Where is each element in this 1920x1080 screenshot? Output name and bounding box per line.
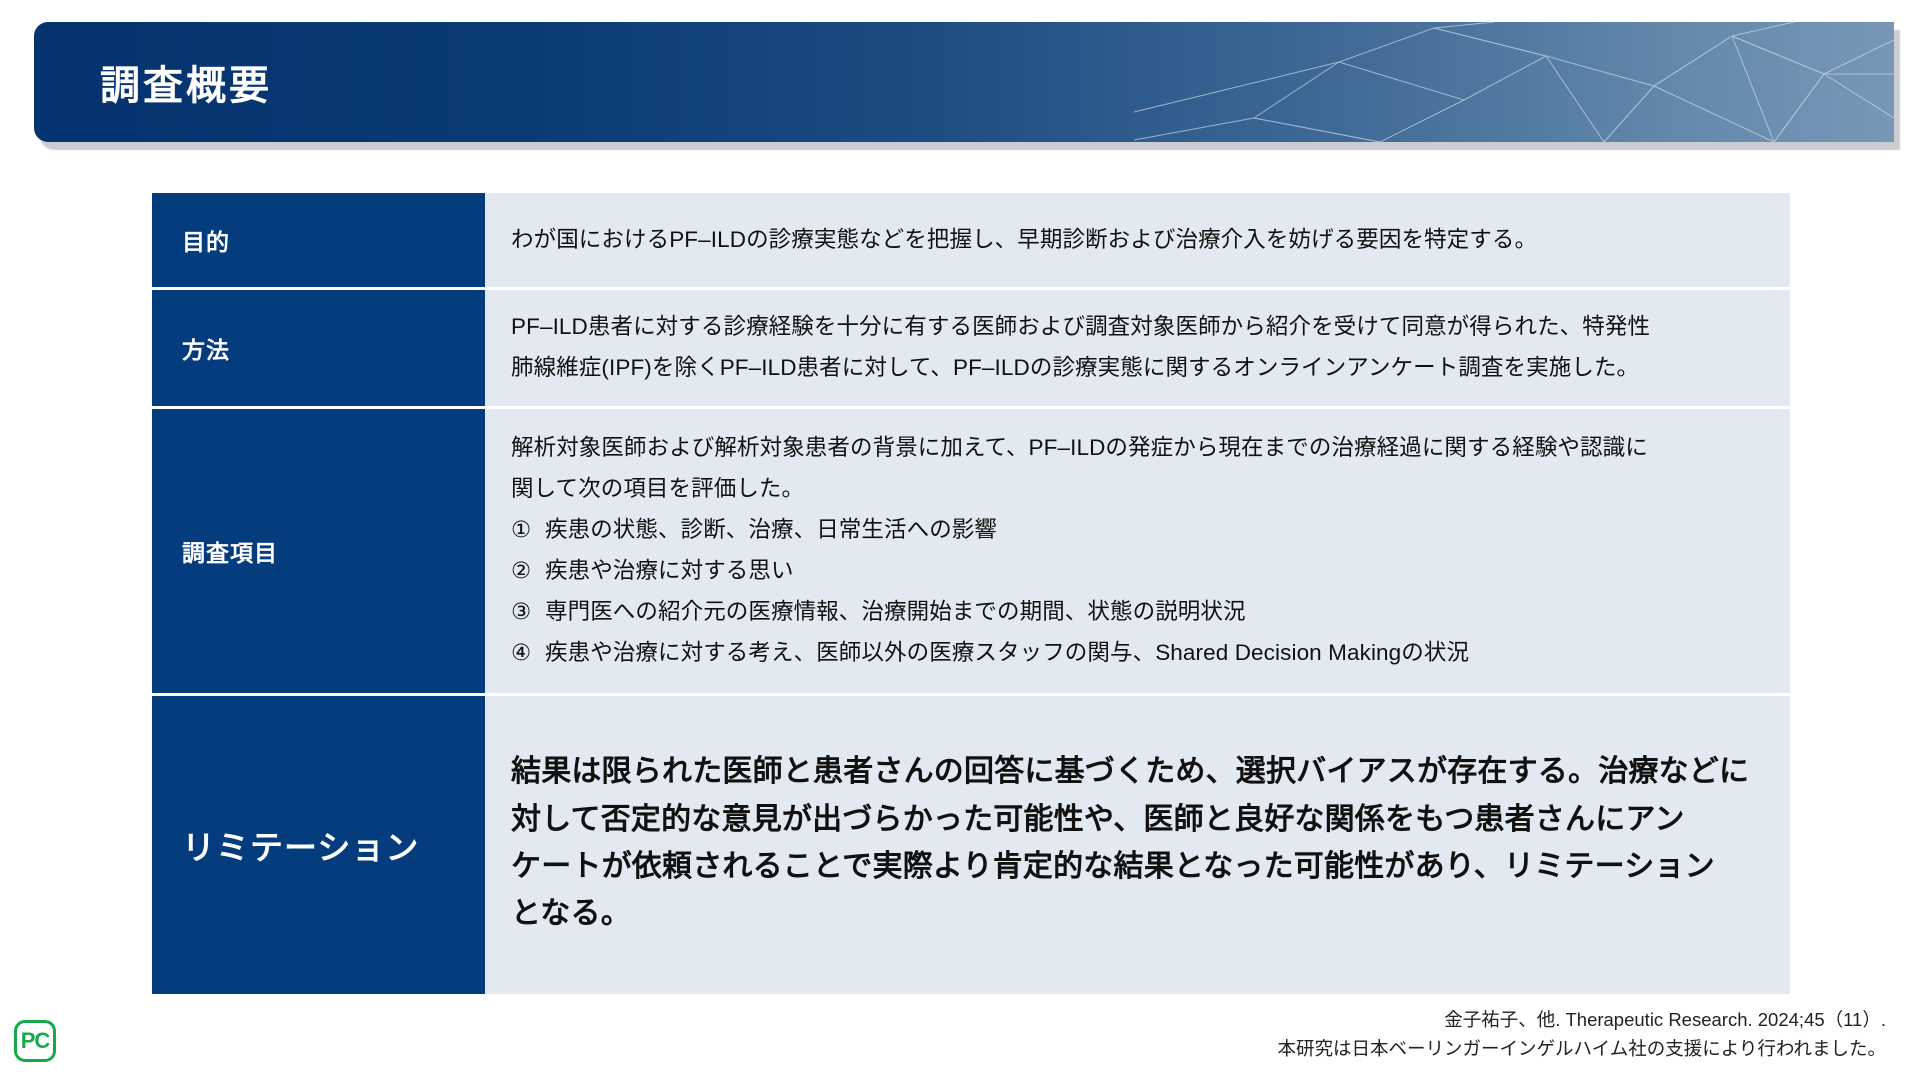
body-line: わが国におけるPF–ILDの診療実態などを把握し、早期診断および治療介入を妨げる… [511, 220, 1760, 261]
funding-text: 本研究は日本ベーリンガーインゲルハイム社の支援により行われました。 [1278, 1034, 1886, 1064]
list-item: ③ 専門医への紹介元の医療情報、治療開始までの期間、状態の説明状況 [511, 592, 1760, 633]
page-title: 調査概要 [100, 53, 272, 111]
list-item-label: 疾患の状態、診断、治療、日常生活への影響 [545, 510, 997, 551]
body-line: ケートが依頼されることで実際より肯定的な結果となった可能性があり、リミテーション [511, 843, 1760, 890]
list-item: ④ 疾患や治療に対する考え、医師以外の医療スタッフの関与、Shared Deci… [511, 633, 1760, 674]
list-item: ② 疾患や治療に対する思い [511, 551, 1760, 592]
list-item-number: ④ [511, 633, 545, 674]
list-item-label: 疾患や治療に対する考え、医師以外の医療スタッフの関与、Shared Decisi… [545, 633, 1469, 674]
body-line: 肺線維症(IPF)を除くPF–ILD患者に対して、PF–ILDの診療実態に関する… [511, 348, 1760, 389]
body-line: 解析対象医師および解析対象患者の背景に加えて、PF–ILDの発症から現在までの治… [511, 428, 1760, 469]
row-body-purpose: わが国におけるPF–ILDの診療実態などを把握し、早期診断および治療介入を妨げる… [485, 193, 1790, 289]
table-row: 調査項目 解析対象医師および解析対象患者の背景に加えて、PF–ILDの発症から現… [152, 408, 1790, 695]
header-banner: 調査概要 [34, 22, 1894, 142]
survey-overview-table: 目的 わが国におけるPF–ILDの診療実態などを把握し、早期診断および治療介入を… [152, 193, 1790, 994]
pc-logo-icon: PC [14, 1020, 56, 1062]
list-item-number: ② [511, 551, 545, 592]
citation-text: 金子祐子、他. Therapeutic Research. 2024;45（11… [1278, 1005, 1886, 1035]
table-row: 方法 PF–ILD患者に対する診療経験を十分に有する医師および調査対象医師から紹… [152, 289, 1790, 408]
row-body-method: PF–ILD患者に対する診療経験を十分に有する医師および調査対象医師から紹介を受… [485, 289, 1790, 408]
table-row: 目的 わが国におけるPF–ILDの診療実態などを把握し、早期診断および治療介入を… [152, 193, 1790, 289]
list-item-label: 専門医への紹介元の医療情報、治療開始までの期間、状態の説明状況 [545, 592, 1246, 633]
list-item: ① 疾患の状態、診断、治療、日常生活への影響 [511, 510, 1760, 551]
row-label-survey-items: 調査項目 [152, 408, 485, 695]
list-item-label: 疾患や治療に対する思い [545, 551, 794, 592]
row-label-limitation: リミテーション [152, 695, 485, 995]
row-label-purpose: 目的 [152, 193, 485, 289]
list-item-number: ① [511, 510, 545, 551]
list-item-number: ③ [511, 592, 545, 633]
survey-item-list: ① 疾患の状態、診断、治療、日常生活への影響 ② 疾患や治療に対する思い ③ 専… [511, 510, 1760, 674]
row-body-limitation: 結果は限られた医師と患者さんの回答に基づくため、選択バイアスが存在する。治療など… [485, 695, 1790, 995]
table-row: リミテーション 結果は限られた医師と患者さんの回答に基づくため、選択バイアスが存… [152, 695, 1790, 995]
polygon-network-graphic [1134, 22, 1894, 142]
body-line: 結果は限られた医師と患者さんの回答に基づくため、選択バイアスが存在する。治療など… [511, 748, 1760, 795]
body-line: 関して次の項目を評価した。 [511, 469, 1760, 510]
body-line: となる。 [511, 890, 1760, 937]
body-line: 対して否定的な意見が出づらかった可能性や、医師と良好な関係をもつ患者さんにアン [511, 796, 1760, 843]
footer-citation-block: 金子祐子、他. Therapeutic Research. 2024;45（11… [1278, 1005, 1886, 1064]
slide-header: 調査概要 [34, 22, 1900, 150]
row-label-method: 方法 [152, 289, 485, 408]
row-body-survey-items: 解析対象医師および解析対象患者の背景に加えて、PF–ILDの発症から現在までの治… [485, 408, 1790, 695]
body-line: PF–ILD患者に対する診療経験を十分に有する医師および調査対象医師から紹介を受… [511, 307, 1760, 348]
